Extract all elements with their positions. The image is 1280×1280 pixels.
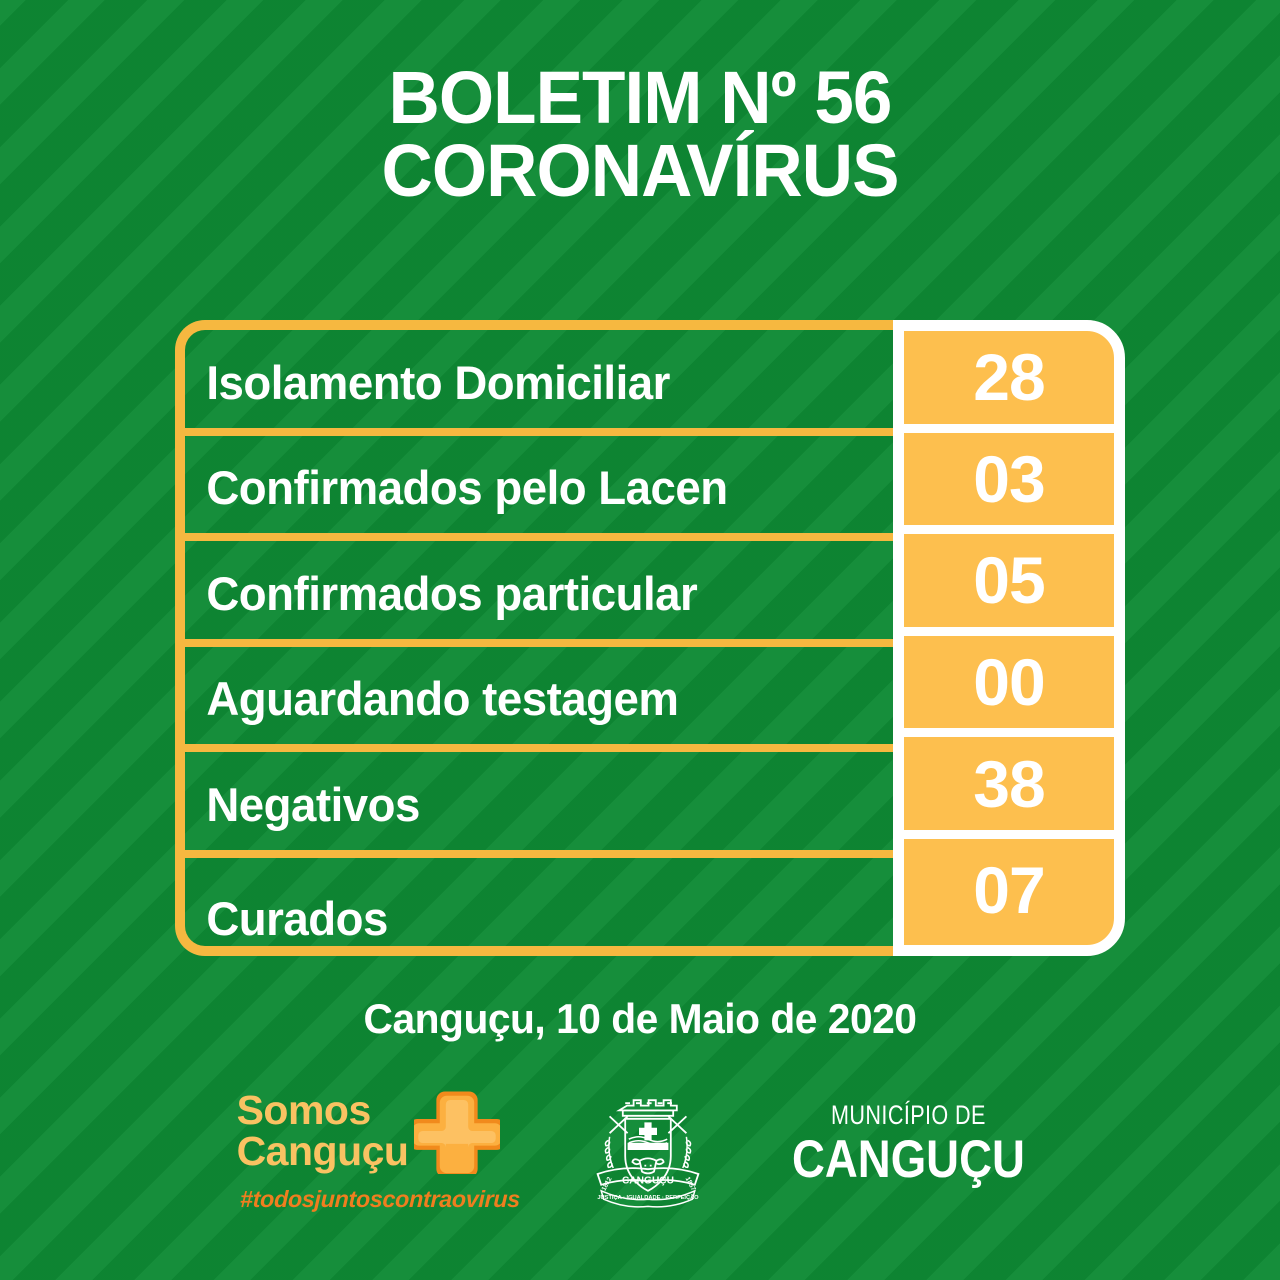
table-row-label: Negativos bbox=[185, 781, 420, 850]
table-row-label: Isolamento Domiciliar bbox=[185, 359, 670, 428]
table-row-value: 28 bbox=[973, 344, 1044, 410]
table-row: Curados bbox=[185, 858, 893, 956]
cangucu-word: Canguçu bbox=[237, 1131, 409, 1172]
footer: Somos Canguçu #todosjuntoscontraovirus bbox=[0, 1088, 1280, 1248]
municipio-name: CANGUÇU bbox=[792, 1133, 1025, 1186]
municipio-label: MUNICÍPIO DE bbox=[800, 1102, 1017, 1129]
date-line: Canguçu, 10 de Maio de 2020 bbox=[19, 995, 1261, 1043]
page-title: BOLETIM Nº 56 CORONAVÍRUS bbox=[26, 62, 1255, 207]
table-row: Aguardando testagem bbox=[185, 647, 893, 753]
page-title-line1: BOLETIM Nº 56 bbox=[389, 56, 892, 139]
table-row-label: Aguardando testagem bbox=[185, 675, 678, 744]
plus-cross-icon bbox=[414, 1088, 500, 1174]
statistics-table-labels-panel: Isolamento Domiciliar Confirmados pelo L… bbox=[175, 320, 893, 956]
table-row-value-cell: 00 bbox=[904, 636, 1114, 738]
table-row-value: 00 bbox=[973, 649, 1044, 715]
page-title-line2: CORONAVÍRUS bbox=[26, 135, 1255, 208]
table-row-value-cell: 28 bbox=[904, 331, 1114, 433]
coat-ribbon-name: CANGUÇU bbox=[622, 1176, 674, 1187]
table-row-value: 05 bbox=[973, 547, 1044, 613]
municipio-wordmark: MUNICÍPIO DE CANGUÇU bbox=[773, 1102, 1044, 1186]
table-row-value-cell: 05 bbox=[904, 534, 1114, 636]
table-row-value-cell: 07 bbox=[904, 839, 1114, 941]
table-row-label: Confirmados pelo Lacen bbox=[185, 464, 728, 533]
table-row-value-cell: 03 bbox=[904, 433, 1114, 535]
somos-cangucu-logo: Somos Canguçu #todosjuntoscontraovirus bbox=[237, 1088, 523, 1213]
table-row: Confirmados particular bbox=[185, 541, 893, 647]
table-row: Negativos bbox=[185, 752, 893, 858]
table-row-label: Curados bbox=[185, 895, 388, 956]
coat-year-left: 1812 bbox=[600, 1176, 613, 1193]
statistics-table-values-panel: 28 03 05 00 38 07 bbox=[893, 320, 1125, 956]
coat-motto: JUSTIÇA · IGUALDADE · PERFEIÇÃO bbox=[597, 1194, 699, 1201]
somos-cangucu-wordmark: Somos Canguçu bbox=[237, 1090, 409, 1172]
table-row-value: 03 bbox=[973, 446, 1044, 512]
statistics-table: Isolamento Domiciliar Confirmados pelo L… bbox=[175, 320, 1125, 956]
table-row-value: 07 bbox=[973, 857, 1044, 923]
table-row-value-cell: 38 bbox=[904, 737, 1114, 839]
table-row-label: Confirmados particular bbox=[185, 570, 697, 639]
hashtag-text: #todosjuntoscontraovirus bbox=[238, 1186, 522, 1213]
table-row: Isolamento Domiciliar bbox=[185, 330, 893, 436]
table-row-value: 38 bbox=[973, 751, 1044, 817]
canguçu-coat-of-arms-icon: CANGUÇU 1812 1857 JUSTIÇA · IGUALDADE · … bbox=[587, 1090, 709, 1216]
somos-word: Somos bbox=[237, 1090, 409, 1131]
table-row: Confirmados pelo Lacen bbox=[185, 436, 893, 542]
